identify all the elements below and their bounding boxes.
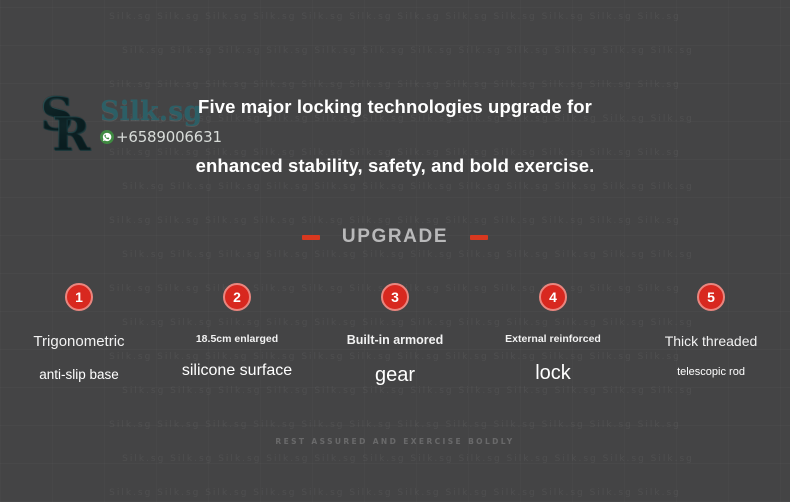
feature-line-2: lock [535,362,571,385]
promo-banner: Silk.sg Silk.sg Silk.sg Silk.sg Silk.sg … [0,0,790,502]
feature-line-1: External reinforced [505,333,601,345]
feature-line-2: anti-slip base [39,367,119,382]
feature-item: 1 Trigonometric anti-slip base [0,283,158,387]
feature-number-badge: 5 [697,283,725,311]
feature-item: 3 Built-in armored gear [316,283,474,387]
headline-line-2: enhanced stability, safety, and bold exe… [0,155,790,177]
dash-left-icon [302,235,320,240]
feature-line-1: Trigonometric [33,333,124,350]
feature-line-2: telescopic rod [677,366,745,378]
upgrade-label: UPGRADE [342,226,448,248]
feature-number-badge: 2 [223,283,251,311]
feature-number-badge: 4 [539,283,567,311]
upgrade-ribbon: UPGRADE [0,226,790,248]
feature-list: 1 Trigonometric anti-slip base 2 18.5cm … [0,283,790,387]
footer-tagline: REST ASSURED AND EXERCISE BOLDLY [0,437,790,446]
feature-item: 5 Thick threaded telescopic rod [632,283,790,387]
headline: Five major locking technologies upgrade … [0,96,790,177]
dash-right-icon [470,235,488,240]
feature-item: 2 18.5cm enlarged silicone surface [158,283,316,387]
feature-number-badge: 3 [381,283,409,311]
feature-line-2: gear [375,364,415,387]
feature-line-1: 18.5cm enlarged [196,333,278,345]
headline-line-1: Five major locking technologies upgrade … [0,96,790,118]
background-watermark: Silk.sg Silk.sg Silk.sg Silk.sg Silk.sg … [0,0,790,502]
feature-item: 4 External reinforced lock [474,283,632,387]
feature-line-2: silicone surface [182,362,292,380]
feature-line-1: Thick threaded [665,333,758,349]
feature-number-badge: 1 [65,283,93,311]
feature-line-1: Built-in armored [347,333,444,347]
